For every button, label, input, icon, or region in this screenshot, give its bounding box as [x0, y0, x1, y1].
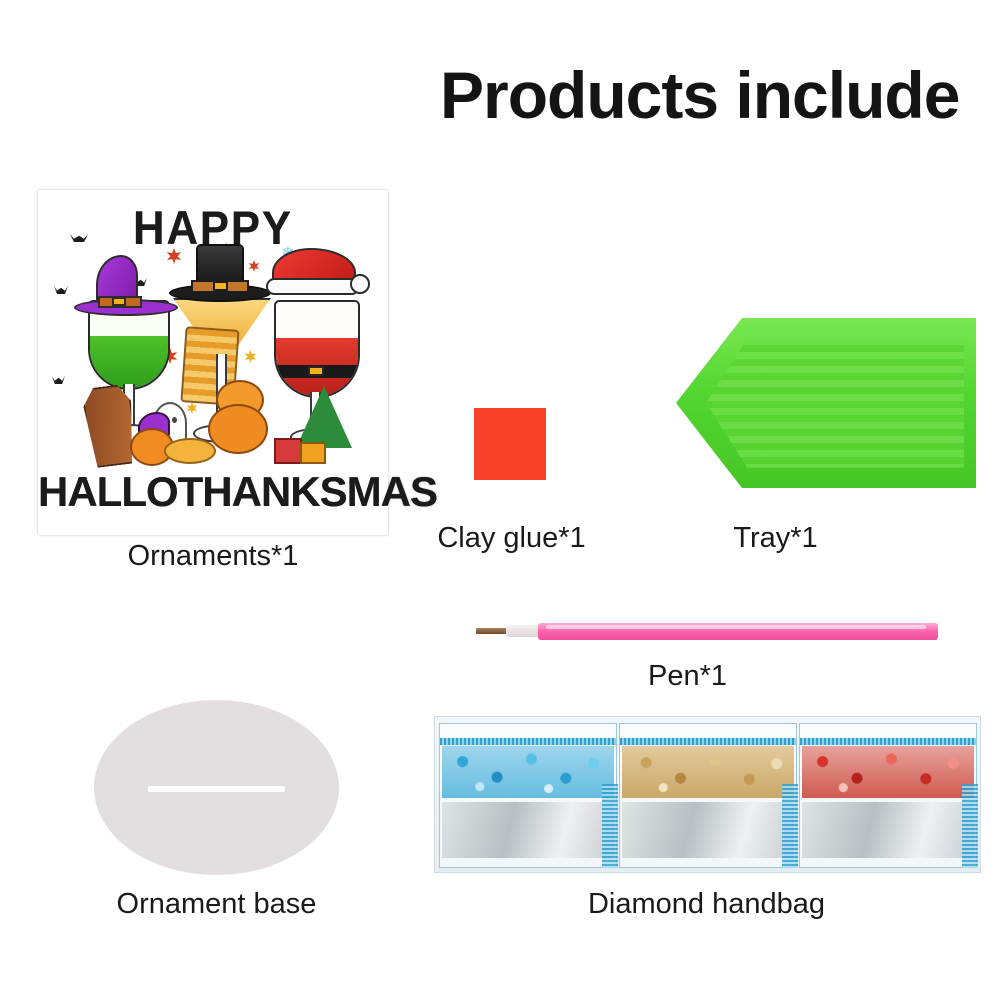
hat-buckle	[213, 281, 228, 291]
ornaments-label: Ornaments*1	[38, 540, 388, 573]
ornament-sticker: HAPPY ❄	[38, 190, 388, 535]
pouch-side-seal	[602, 784, 618, 868]
pen-metal-tip	[476, 628, 508, 634]
pouch-foil-label	[802, 802, 974, 858]
pouch-side-seal	[782, 784, 798, 868]
tray-label: Tray*1	[678, 522, 873, 555]
base-slot	[148, 786, 285, 792]
pumpkin-icon	[208, 404, 268, 454]
hat-pompom	[350, 274, 370, 294]
pouch-zip-seal	[620, 738, 796, 745]
pouch-foil-label	[442, 802, 614, 858]
pen-product-image	[476, 620, 938, 642]
clay-glue-label: Clay glue*1	[414, 522, 609, 555]
gem-pouch	[439, 723, 617, 868]
pen-highlight	[546, 625, 926, 629]
tray-product-image	[676, 318, 976, 488]
pouch-foil-label	[622, 802, 794, 858]
tray-grooves	[706, 338, 964, 467]
gem-pouch	[619, 723, 797, 868]
glass-bowl	[274, 300, 360, 398]
pouch-side-seal	[962, 784, 978, 868]
bat-icon	[52, 376, 65, 384]
christmas-tree-icon	[296, 386, 352, 448]
clay-glue-product-image	[474, 408, 546, 480]
gem-pouch	[799, 723, 977, 868]
ornaments-product-image: HAPPY ❄	[38, 190, 388, 535]
gift-box-icon	[300, 442, 326, 464]
gift-box-icon	[274, 438, 302, 464]
bat-icon	[54, 286, 68, 294]
ornament-base-label: Ornament base	[94, 888, 339, 921]
santa-belt-buckle	[308, 366, 324, 376]
ornament-base-product-image	[94, 700, 339, 875]
diamond-handbag-product-image	[434, 716, 981, 873]
red-rhinestones	[802, 746, 974, 798]
gold-rhinestones	[622, 746, 794, 798]
pouch-zip-seal	[440, 738, 616, 745]
pilgrim-hat-icon	[169, 236, 271, 302]
santa-hat-icon	[264, 248, 368, 308]
pen-ferrule	[506, 625, 540, 637]
blue-rhinestones	[442, 746, 614, 798]
glass-liquid	[90, 336, 168, 388]
artwork-bottom-word: HALLOTHANKSMAS	[38, 468, 388, 516]
diamond-handbag-label: Diamond handbag	[434, 888, 979, 921]
pouch-zip-seal	[800, 738, 976, 745]
pumpkin-pie-icon	[164, 438, 216, 464]
page-title: Products include	[440, 62, 985, 128]
pen-label: Pen*1	[590, 660, 785, 693]
hat-fur-trim	[266, 278, 360, 295]
hat-buckle	[112, 297, 126, 306]
